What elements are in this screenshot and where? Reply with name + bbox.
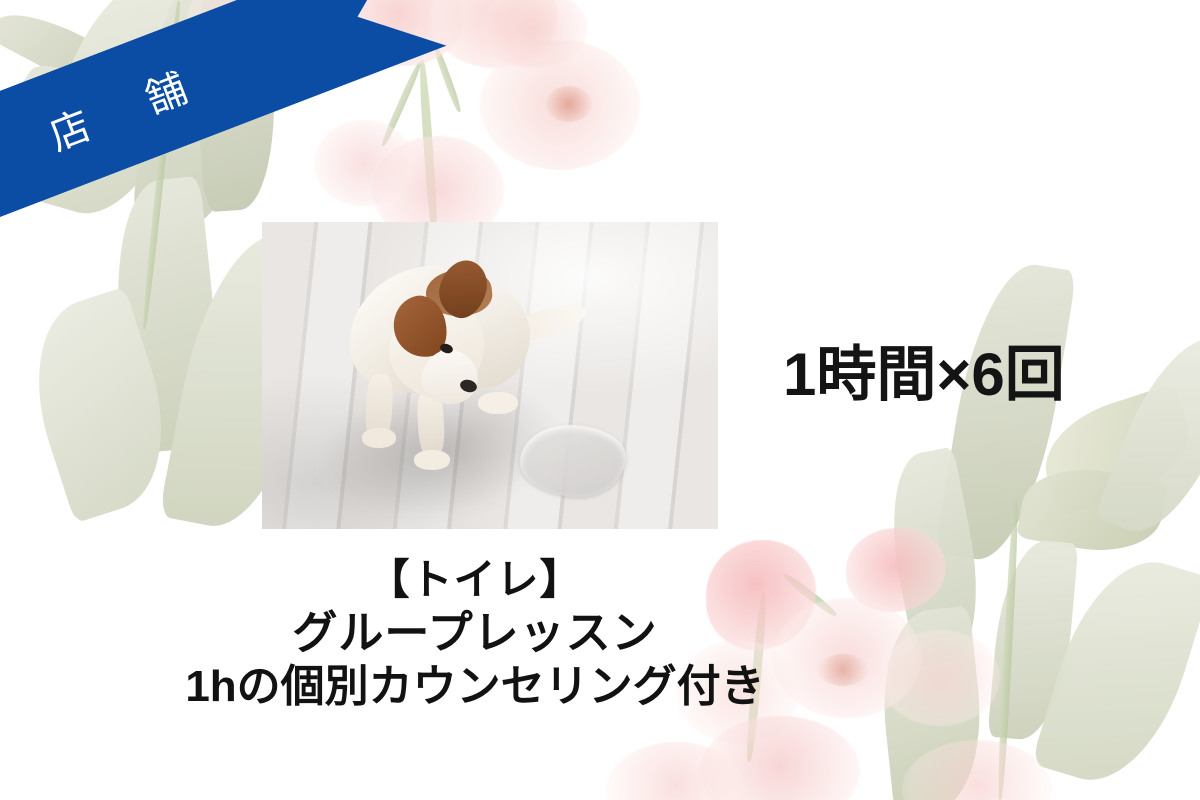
puddle-icon <box>520 425 626 497</box>
orchid-center-icon <box>546 86 592 122</box>
willow-leaf-icon <box>10 287 189 524</box>
caption-line-counseling: 1hの個別カウンセリング付き <box>0 660 950 714</box>
orchid-blossom-icon <box>430 0 558 68</box>
caption-block: 【トイレ】 グループレッスン 1hの個別カウンセリング付き <box>0 556 950 714</box>
poster-canvas: 店 舗 <box>0 0 1200 800</box>
eucalyptus-leaf-icon <box>1016 458 1168 561</box>
dog-paw <box>362 428 396 448</box>
orchid-blossom-icon <box>314 120 414 206</box>
dog-paw <box>414 450 450 470</box>
stem-icon <box>996 500 1020 800</box>
ribbon-label: 店 舗 <box>0 0 447 232</box>
eucalyptus-leaf-icon <box>1031 543 1200 798</box>
orchid-blossom-icon <box>478 0 588 68</box>
caption-line-lesson-type: グループレッスン <box>0 606 950 660</box>
caption-line-category: 【トイレ】 <box>0 556 950 606</box>
orchid-blossom-icon <box>902 740 1052 800</box>
orchid-blossom-icon <box>480 40 640 170</box>
eucalyptus-leaf-icon <box>987 537 1078 743</box>
orchid-blossom-icon <box>606 742 746 800</box>
page-title: 1時間×6回 <box>783 326 1065 413</box>
willow-leaf-icon <box>104 176 228 455</box>
dog-paw <box>478 392 518 414</box>
stem-icon <box>432 45 463 113</box>
eucalyptus-leaf-icon <box>1094 322 1200 549</box>
stem-icon <box>380 61 424 148</box>
stem-icon <box>418 60 440 240</box>
store-ribbon-banner: 店 舗 <box>0 0 447 232</box>
orchid-blossom-icon <box>700 716 860 800</box>
puppy-photo <box>262 222 718 529</box>
